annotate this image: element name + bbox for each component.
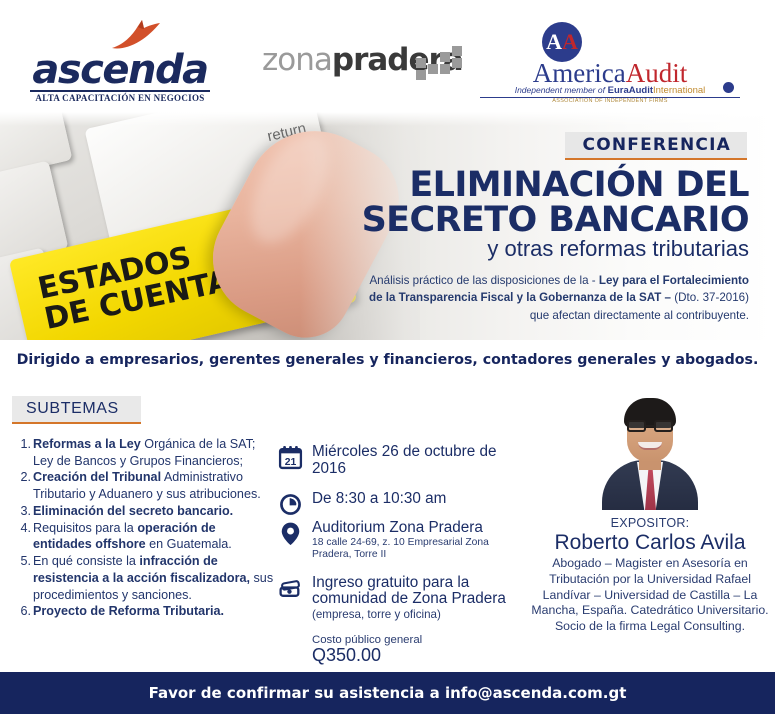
ascenda-logo[interactable]: ascenda ALTA CAPACITACIÓN EN NEGOCIOS	[30, 18, 210, 98]
aa-member-prefix: Independent member of	[515, 85, 605, 95]
detail-free-note: (empresa, torre y oficina)	[312, 608, 528, 621]
zona-part1: zona	[262, 42, 332, 78]
aa-mono-a2: A	[562, 29, 578, 54]
detail-price: Ingreso gratuito para la comunidad de Zo…	[278, 575, 528, 622]
detail-free-text: Ingreso gratuito para la comunidad de Zo…	[312, 575, 528, 609]
detail-time: De 8:30 a 10:30 am	[278, 491, 528, 508]
list-item: 1.Reformas a la Ley Orgánica de la SAT; …	[14, 436, 276, 469]
list-item-number: 6.	[14, 603, 31, 620]
aa-member-brand2: International	[653, 85, 705, 96]
detail-date: 21 Miércoles 26 de octubre de 2016	[278, 444, 528, 478]
map-pin-icon	[278, 521, 303, 546]
estados-de-cuenta-text: ESTADOS DE CUENTA	[36, 236, 234, 335]
list-item-bold: Creación del Tribunal	[33, 470, 161, 484]
title-line-2: SECRETO BANCARIO	[279, 203, 749, 238]
clock-icon	[278, 492, 303, 517]
footer-bar: Favor de confirmar su asistencia a info@…	[0, 672, 775, 714]
svg-text:21: 21	[285, 457, 297, 468]
list-item-rest: en Guatemala.	[146, 537, 232, 551]
detail-venue-text: Auditorium Zona Pradera	[312, 520, 528, 537]
subtemas-badge: SUBTEMAS	[12, 396, 141, 424]
list-item-number: 2.	[14, 469, 31, 486]
aa-mono-a1: A	[546, 29, 562, 54]
list-item-number: 5.	[14, 553, 31, 570]
ascenda-tagline: ALTA CAPACITACIÓN EN NEGOCIOS	[30, 90, 210, 103]
speaker-bio: Abogado – Magister en Asesoría en Tribut…	[530, 556, 770, 635]
desc-part-3: que afectan directamente al contribuyent…	[530, 309, 749, 322]
americaaudit-association: ASSOCIATION OF INDEPENDENT FIRMS	[480, 98, 740, 104]
list-item: 4.Requisitos para la operación de entida…	[14, 520, 276, 553]
list-item: 6.Proyecto de Reforma Tributaria.	[14, 603, 276, 620]
page-title: ELIMINACIÓN DEL SECRETO BANCARIO	[279, 168, 749, 237]
logo-bar: ascenda ALTA CAPACITACIÓN EN NEGOCIOS zo…	[0, 0, 775, 112]
americaaudit-logo[interactable]: AA AmericaAudit Independent member of Eu…	[480, 22, 740, 100]
americaaudit-member-line: Independent member of EuraAuditInternati…	[480, 86, 740, 98]
list-item-number: 3.	[14, 503, 31, 520]
desc-bold-2: de la Transparencia Fiscal y la Gobernan…	[369, 291, 674, 304]
audience-band: Dirigido a empresarios, gerentes general…	[0, 340, 775, 380]
list-item-bold: Proyecto de Reforma Tributaria.	[33, 604, 224, 618]
list-item: 5.En qué consiste la infracción de resis…	[14, 553, 276, 603]
conferencia-badge: CONFERENCIA	[565, 132, 747, 160]
list-item: 3.Eliminación del secreto bancario.	[14, 503, 276, 520]
zonapradera-logo[interactable]: zonapradera	[262, 45, 463, 85]
price-value: Q350.00	[312, 646, 528, 665]
event-details: 21 Miércoles 26 de octubre de 2016 De 8:…	[278, 444, 528, 665]
speaker-name: Roberto Carlos Avila	[530, 531, 770, 554]
detail-time-text: De 8:30 a 10:30 am	[312, 491, 528, 508]
aa-word-audit: Audit	[626, 58, 688, 88]
aa-member-brand: EuraAudit	[608, 85, 653, 96]
detail-date-text: Miércoles 26 de octubre de 2016	[312, 444, 528, 478]
glasses-icon	[627, 420, 673, 432]
americaaudit-wordmark: AmericaAudit	[480, 60, 740, 87]
desc-part-2: (Dto. 37-2016)	[674, 291, 749, 304]
aa-word-america: America	[533, 58, 626, 88]
conference-poster: ascenda ALTA CAPACITACIÓN EN NEGOCIOS zo…	[0, 0, 775, 714]
speaker-block: EXPOSITOR: Roberto Carlos Avila Abogado …	[530, 392, 770, 635]
subtemas-list: 1.Reformas a la Ley Orgánica de la SAT; …	[14, 436, 276, 620]
detail-location: Auditorium Zona Pradera 18 calle 24-69, …	[278, 520, 528, 561]
list-item-number: 4.	[14, 520, 31, 537]
ascenda-wordmark: ascenda	[30, 50, 210, 90]
page-subtitle: y otras reformas tributarias	[279, 238, 749, 260]
desc-part-1: Análisis práctico de las disposiciones d…	[369, 274, 598, 287]
list-item-bold: Eliminación del secreto bancario.	[33, 504, 233, 518]
americaaudit-monogram-icon: AA	[542, 22, 582, 62]
detail-address-text: 18 calle 24-69, z. 10 Empresarial Zona P…	[312, 537, 528, 561]
speaker-avatar	[594, 392, 706, 510]
globe-icon	[723, 82, 734, 93]
title-line-1: ELIMINACIÓN DEL	[279, 168, 749, 203]
footer-text: Favor de confirmar su asistencia a info@…	[149, 684, 627, 702]
list-item-pre: En qué consiste la	[33, 554, 139, 568]
list-item-pre: Requisitos para la	[33, 521, 137, 535]
desc-bold-1: Ley para el Fortalecimiento	[599, 274, 749, 287]
list-item: 2.Creación del Tribunal Administrativo T…	[14, 469, 276, 502]
page-description: Análisis práctico de las disposiciones d…	[279, 272, 749, 324]
calendar-icon: 21	[278, 445, 303, 470]
hero-top-fade	[0, 112, 775, 126]
money-icon	[278, 576, 303, 601]
list-item-bold: Reformas a la Ley	[33, 437, 141, 451]
zonapradera-squares-icon	[416, 40, 462, 80]
speaker-label: EXPOSITOR:	[530, 516, 770, 530]
list-item-number: 1.	[14, 436, 31, 453]
price-block: Costo público general Q350.00	[278, 634, 528, 665]
